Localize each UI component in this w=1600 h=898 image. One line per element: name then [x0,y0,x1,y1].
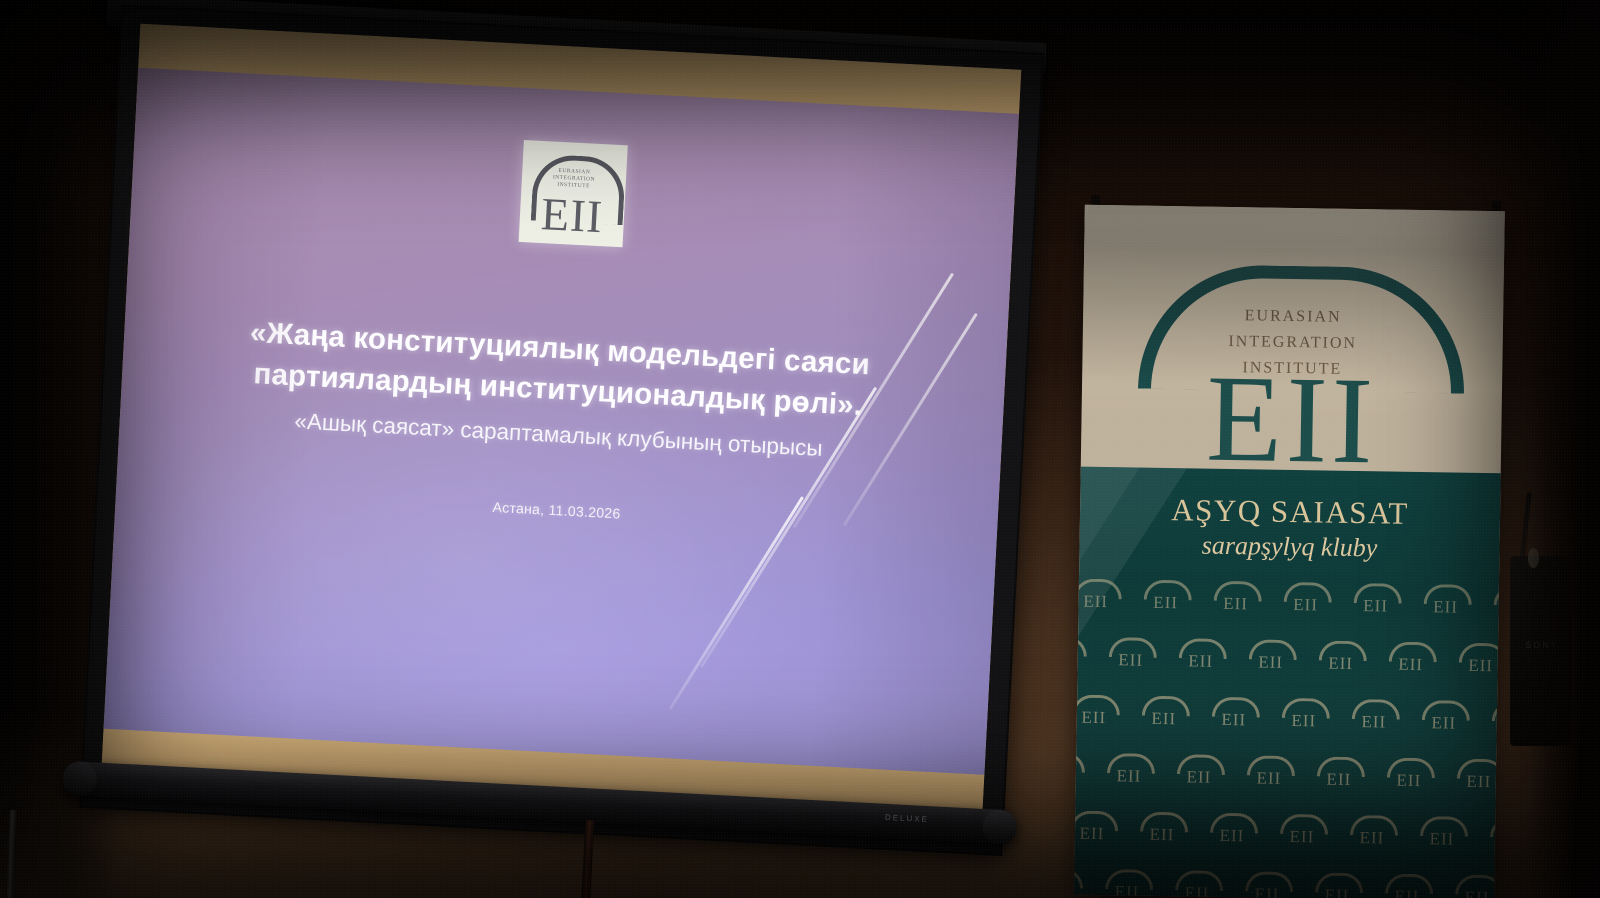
banner-pattern-mark: EII [1344,583,1407,624]
pattern-monogram: EII [1341,828,1403,849]
pattern-monogram: EII [1376,886,1438,898]
pattern-monogram: EII [1134,593,1196,614]
tripod-stand-rod [0,800,28,898]
screen-bar-cap-right [982,809,1018,845]
screen-brand-label: DELUXE [885,813,929,824]
banner-eii-pattern: EIIEIIEIIEIIEIIEIIEIIEIIEIIEIIEIIEIIEIIE… [1074,579,1501,898]
pattern-monogram: EII [1166,883,1228,898]
banner-pattern-mark: EII [1074,694,1125,735]
projection-screen-frame: EURASIAN INTEGRATION INSTITUTE EII «Жаңа… [79,5,1044,856]
banner-pattern-mark: EII [1203,697,1266,738]
banner-pattern-mark: EII [1236,871,1299,898]
banner-pattern-mark: EII [1273,698,1336,739]
pattern-monogram: EII [1168,767,1230,788]
banner-pattern-mark: EII [1376,873,1439,898]
pattern-monogram: EII [1098,766,1160,787]
banner-pattern-mark: EII [1204,581,1267,622]
pattern-monogram: EII [1450,655,1501,676]
pattern-monogram: EII [1484,598,1500,619]
banner-pattern-mark: EII [1308,756,1371,797]
pattern-monogram: EII [1273,711,1335,732]
banner-teal-panel: AŞYQ SAIASAT sarapşylyq kluby EIIEIIEIIE… [1074,467,1501,898]
pattern-monogram: EII [1380,654,1442,675]
screen-bar-cap-left [62,761,98,797]
banner-pattern-mark: EII [1379,641,1442,682]
banner-pattern-mark: EII [1239,639,1302,680]
banner-pattern-mark: EII [1446,874,1501,898]
banner-cloth: EURASIAN INTEGRATION INSTITUTE EII AŞYQ … [1074,205,1505,898]
pattern-monogram: EII [1100,650,1162,671]
pattern-monogram: EII [1133,709,1195,730]
pattern-monogram: EII [1274,595,1336,616]
banner-pattern-mark: EII [1341,815,1404,856]
projection-screen-surface: EURASIAN INTEGRATION INSTITUTE EII «Жаңа… [100,24,1021,837]
pattern-monogram: EII [1310,653,1372,674]
banner-pattern-mark: EII [1378,757,1441,798]
pattern-monogram: EII [1378,770,1440,791]
pattern-monogram: EII [1308,769,1370,790]
banner-pattern-mark: EII [1099,637,1162,678]
banner-pattern-mark: EII [1201,813,1264,854]
pattern-monogram: EII [1074,591,1127,612]
banner-pattern-mark: EII [1133,696,1196,737]
banner-pattern-mark: EII [1449,642,1500,683]
pattern-monogram: EII [1414,597,1476,618]
presentation-slide: EURASIAN INTEGRATION INSTITUTE EII «Жаңа… [104,68,1019,775]
pattern-monogram: EII [1170,651,1232,672]
banner-logo-area: EURASIAN INTEGRATION INSTITUTE EII [1081,205,1505,474]
banner-pattern-mark: EII [1134,580,1197,621]
banner-pattern-mark: EII [1168,754,1231,795]
pattern-monogram: EII [1074,823,1123,844]
banner-pattern-mark: EII [1098,753,1161,794]
pattern-monogram: EII [1413,713,1475,734]
pattern-monogram: EII [1074,707,1125,728]
projection-screen-assembly: EURASIAN INTEGRATION INSTITUTE EII «Жаңа… [63,0,1082,898]
banner-pattern-mark: EII [1238,755,1301,796]
banner-pattern-mark: EII [1271,814,1334,855]
banner-pattern-mark: EII [1074,578,1127,619]
pattern-monogram: EII [1411,829,1473,850]
banner-logo-monogram: EII [1081,355,1503,486]
rollup-banner: EURASIAN INTEGRATION INSTITUTE EII AŞYQ … [1074,195,1505,898]
banner-pattern-mark: EII [1411,816,1474,857]
banner-pattern-mark: EII [1274,582,1337,623]
pattern-monogram: EII [1204,594,1266,615]
banner-pattern-mark: EII [1074,752,1090,793]
pattern-monogram: EII [1343,712,1405,733]
slide-eii-logo: EURASIAN INTEGRATION INSTITUTE EII [519,140,628,247]
slide-logo-monogram: EII [519,190,625,241]
banner-pattern-mark: EII [1413,700,1476,741]
pattern-monogram: EII [1131,825,1193,846]
banner-club-title: AŞYQ SAIASAT [1080,491,1501,534]
banner-pattern-mark: EII [1131,812,1194,853]
presentation-room-photo: EURASIAN INTEGRATION INSTITUTE EII «Жаңа… [0,0,1600,898]
pattern-monogram: EII [1240,652,1302,673]
banner-pattern-mark: EII [1309,640,1372,681]
pattern-monogram: EII [1203,710,1265,731]
stand-rod-shaft [6,810,16,898]
pattern-monogram: EII [1236,884,1298,898]
banner-pattern-mark: EII [1414,584,1477,625]
pattern-monogram: EII [1448,771,1501,792]
pattern-monogram: EII [1238,768,1300,789]
banner-pattern-mark: EII [1096,869,1159,898]
pattern-monogram: EII [1344,596,1406,617]
banner-club-subtitle: sarapşylyq kluby [1079,529,1499,566]
banner-pattern-mark: EII [1169,638,1232,679]
banner-pattern-mark: EII [1484,585,1500,626]
banner-pattern-mark: EII [1074,868,1088,898]
wall-shadow-right [1530,0,1600,898]
banner-pattern-mark: EII [1166,870,1229,898]
banner-pattern-mark: EII [1306,872,1369,898]
pattern-monogram: EII [1306,885,1368,898]
slide-date-location: Астана, 11.03.2026 [116,479,998,541]
pattern-monogram: EII [1074,765,1090,786]
banner-pattern-mark: EII [1343,699,1406,740]
pattern-monogram: EII [1201,826,1263,847]
slide-decorative-streaks [657,246,1019,734]
banner-pattern-mark: EII [1448,758,1501,799]
pattern-monogram: EII [1446,887,1501,898]
banner-pattern-mark: EII [1074,810,1123,851]
pattern-monogram: EII [1271,827,1333,848]
